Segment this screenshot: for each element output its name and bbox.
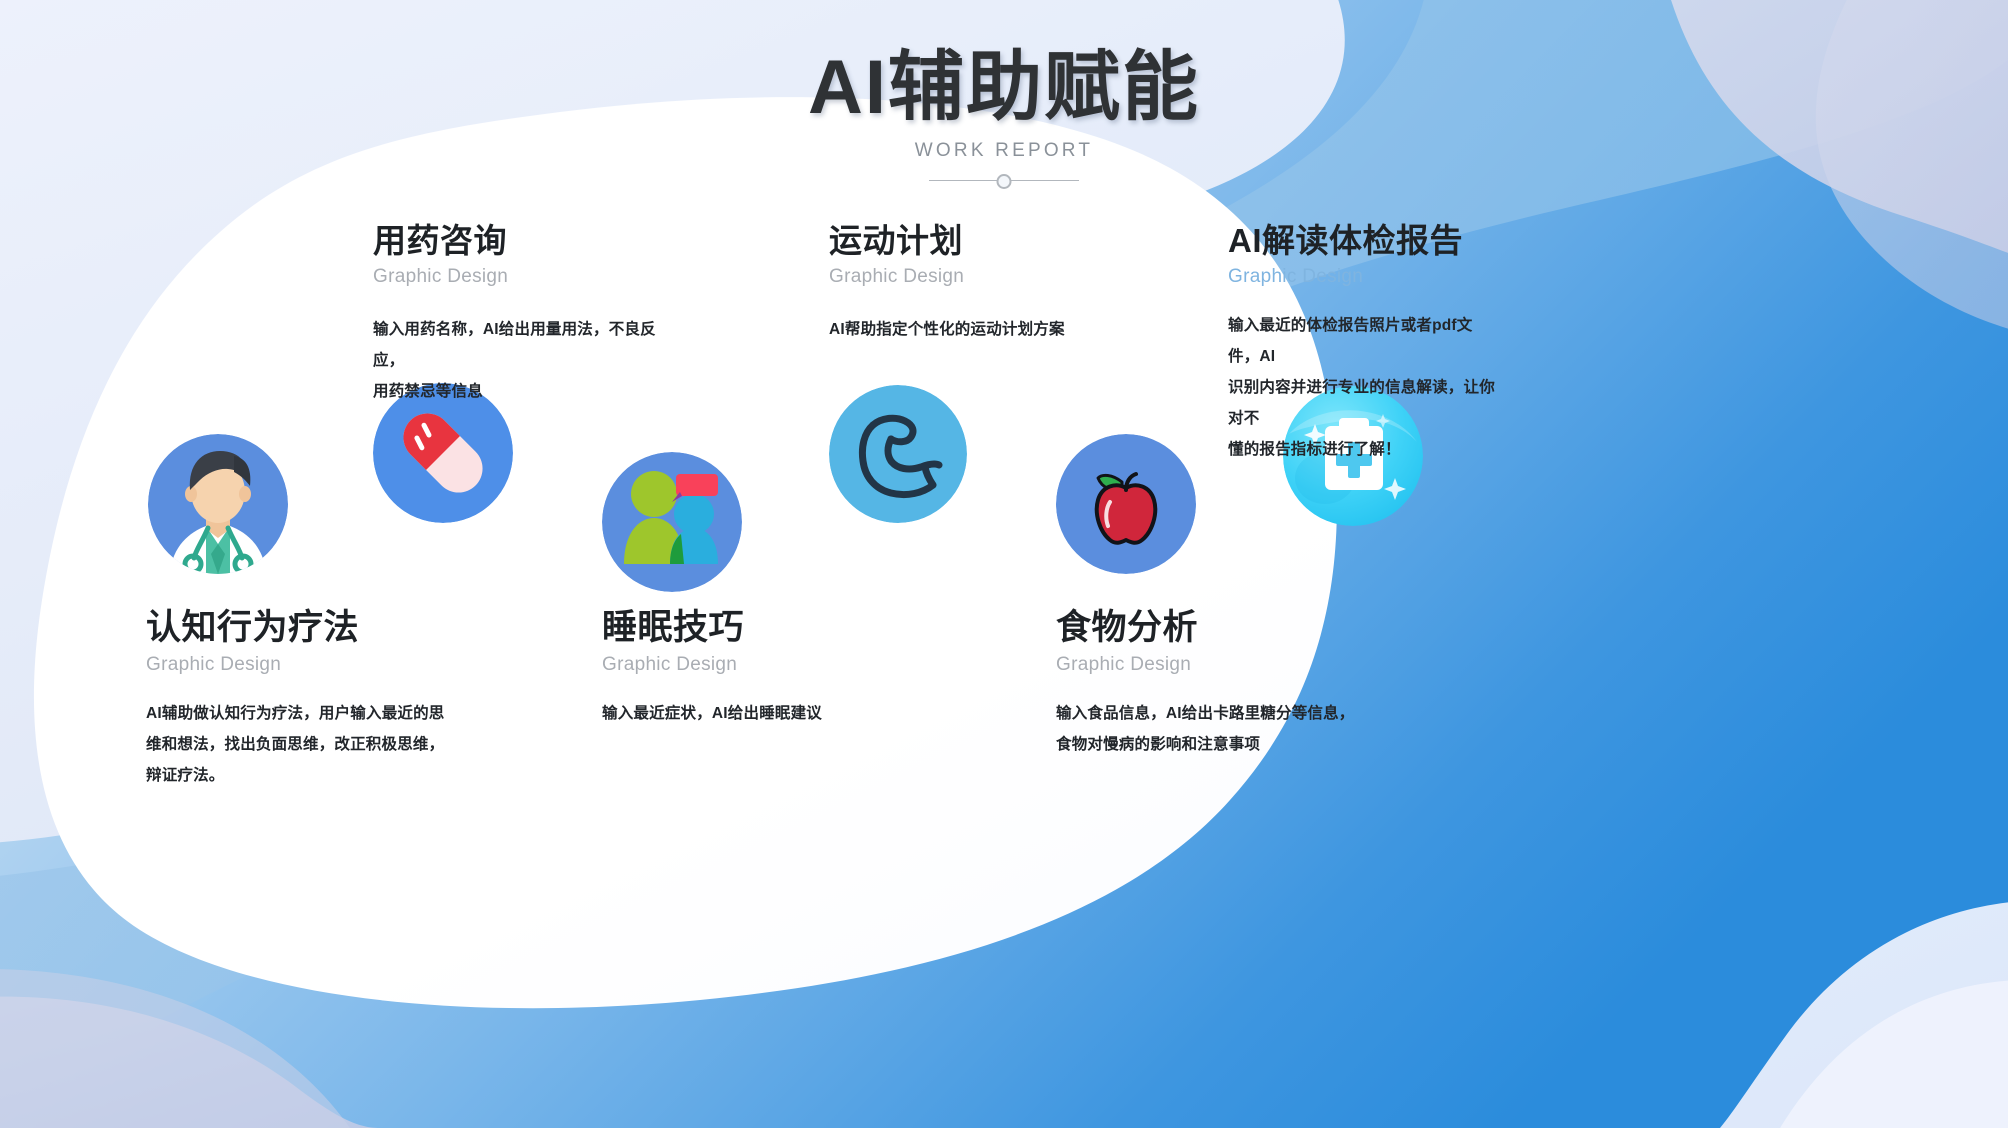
card-desc-line: 辩证疗法。 <box>146 760 446 791</box>
flexed-bicep-icon[interactable] <box>829 385 967 523</box>
card-desc-line: 输入最近症状，AI给出睡眠建议 <box>602 698 902 729</box>
card-description: AI辅助做认知行为疗法，用户输入最近的思 维和想法，找出负面思维，改正积极思维，… <box>146 698 446 791</box>
apple-icon[interactable] <box>1056 434 1196 574</box>
card-exercise-plan: 运动计划 Graphic Design AI帮助指定个性化的运动计划方案 <box>829 222 1129 345</box>
card-medication-consult: 用药咨询 Graphic Design 输入用药名称，AI给出用量用法，不良反应… <box>373 222 673 407</box>
card-subtitle: Graphic Design <box>829 266 1129 288</box>
card-title: AI解读体检报告 <box>1228 222 1498 260</box>
people-talking-svg <box>602 452 742 592</box>
card-desc-line: 食物对慢病的影响和注意事项 <box>1056 729 1356 760</box>
card-sleep-tips: 睡眠技巧 Graphic Design 输入最近症状，AI给出睡眠建议 <box>602 608 902 729</box>
card-title: 睡眠技巧 <box>602 608 902 648</box>
card-title: 运动计划 <box>829 222 1129 260</box>
title-divider <box>929 174 1079 188</box>
card-title: 认知行为疗法 <box>146 608 446 648</box>
slide-canvas: AI辅助赋能 WORK REPORT <box>0 0 2008 1128</box>
doctor-avatar-icon[interactable] <box>148 434 288 574</box>
card-desc-line: AI帮助指定个性化的运动计划方案 <box>829 314 1129 345</box>
doctor-avatar-svg <box>148 434 288 574</box>
card-subtitle: Graphic Design <box>1228 266 1498 288</box>
card-subtitle: Graphic Design <box>1056 654 1356 676</box>
card-ai-health-report: AI解读体检报告 Graphic Design 输入最近的体检报告照片或者pdf… <box>1228 222 1498 465</box>
page-subtitle: WORK REPORT <box>0 140 2008 162</box>
card-desc-line: 输入食品信息，AI给出卡路里糖分等信息， <box>1056 698 1356 729</box>
flexed-bicep-svg <box>829 385 967 523</box>
card-desc-line: AI辅助做认知行为疗法，用户输入最近的思 <box>146 698 446 729</box>
divider-knob <box>997 174 1012 189</box>
card-desc-line: 维和想法，找出负面思维，改正积极思维， <box>146 729 446 760</box>
card-desc-line: 输入用药名称，AI给出用量用法，不良反应， <box>373 314 673 376</box>
apple-svg <box>1056 434 1196 574</box>
card-title: 用药咨询 <box>373 222 673 260</box>
card-cognitive-behavioral-therapy: 认知行为疗法 Graphic Design AI辅助做认知行为疗法，用户输入最近… <box>146 608 446 791</box>
slide-title-block: AI辅助赋能 WORK REPORT <box>0 48 2008 188</box>
card-description: 输入食品信息，AI给出卡路里糖分等信息， 食物对慢病的影响和注意事项 <box>1056 698 1356 760</box>
card-description: AI帮助指定个性化的运动计划方案 <box>829 314 1129 345</box>
card-subtitle: Graphic Design <box>146 654 446 676</box>
card-desc-line: 懂的报告指标进行了解！ <box>1228 434 1498 465</box>
card-subtitle: Graphic Design <box>373 266 673 288</box>
people-talking-icon[interactable] <box>602 452 742 592</box>
card-description: 输入最近症状，AI给出睡眠建议 <box>602 698 902 729</box>
card-desc-line: 输入最近的体检报告照片或者pdf文件，AI <box>1228 310 1498 372</box>
card-desc-line: 用药禁忌等信息 <box>373 376 673 407</box>
card-desc-line: 识别内容并进行专业的信息解读，让你对不 <box>1228 372 1498 434</box>
card-description: 输入最近的体检报告照片或者pdf文件，AI 识别内容并进行专业的信息解读，让你对… <box>1228 310 1498 465</box>
card-title: 食物分析 <box>1056 608 1356 648</box>
card-food-analysis: 食物分析 Graphic Design 输入食品信息，AI给出卡路里糖分等信息，… <box>1056 608 1356 760</box>
card-description: 输入用药名称，AI给出用量用法，不良反应， 用药禁忌等信息 <box>373 314 673 407</box>
page-title: AI辅助赋能 <box>0 48 2008 128</box>
card-subtitle: Graphic Design <box>602 654 902 676</box>
